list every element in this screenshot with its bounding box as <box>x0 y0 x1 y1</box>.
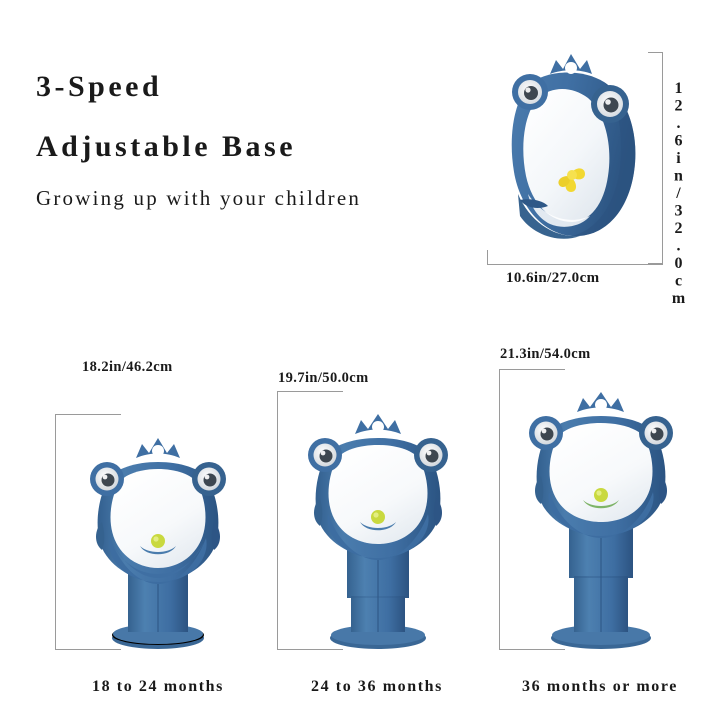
hero-height-label: 12.6in/32.0cm <box>670 80 686 308</box>
headline-line-2: Adjustable Base <box>36 132 466 162</box>
size-large-eye-right <box>639 416 673 450</box>
size-small-eye-left <box>90 462 124 496</box>
size-medium-eye-right <box>414 438 448 472</box>
headline-subtitle: Growing up with your children <box>36 188 466 209</box>
frog-urinal-large <box>515 364 687 652</box>
hero-height-tick-top <box>648 52 663 53</box>
hero-width-tick-left <box>487 250 488 265</box>
hero-eye-right <box>591 85 629 123</box>
size-medium-caption: 24 to 36 months <box>277 678 477 696</box>
size-small-height-rule <box>55 414 56 650</box>
size-medium-eye-left <box>308 438 342 472</box>
size-small-caption: 18 to 24 months <box>58 678 258 696</box>
size-large-figure <box>515 364 687 652</box>
size-small-height-label: 18.2in/46.2cm <box>82 359 173 376</box>
headline-block: 3-Speed Adjustable Base Growing up with … <box>36 72 466 209</box>
frog-urinal-small <box>78 410 238 652</box>
hero-height-rule <box>662 52 663 264</box>
frog-urinal-bowl-3q <box>486 44 656 254</box>
size-medium-height-rule <box>277 391 278 650</box>
frog-urinal-medium <box>295 386 461 652</box>
hero-product-figure <box>486 44 656 254</box>
hero-width-label: 10.6in/27.0cm <box>506 270 600 287</box>
hero-width-rule <box>487 264 663 265</box>
size-medium-height-label: 19.7in/50.0cm <box>278 370 369 387</box>
size-medium-figure <box>295 386 461 652</box>
headline-line-1: 3-Speed <box>36 72 466 102</box>
size-small-figure <box>78 410 238 652</box>
size-small-eye-right <box>192 462 226 496</box>
size-large-eye-left <box>529 416 563 450</box>
size-large-caption: 36 months or more <box>495 678 705 696</box>
hero-width-tick-right <box>662 250 663 265</box>
size-large-height-rule <box>499 369 500 650</box>
hero-eye-left <box>512 74 548 110</box>
size-large-height-label: 21.3in/54.0cm <box>500 346 591 363</box>
